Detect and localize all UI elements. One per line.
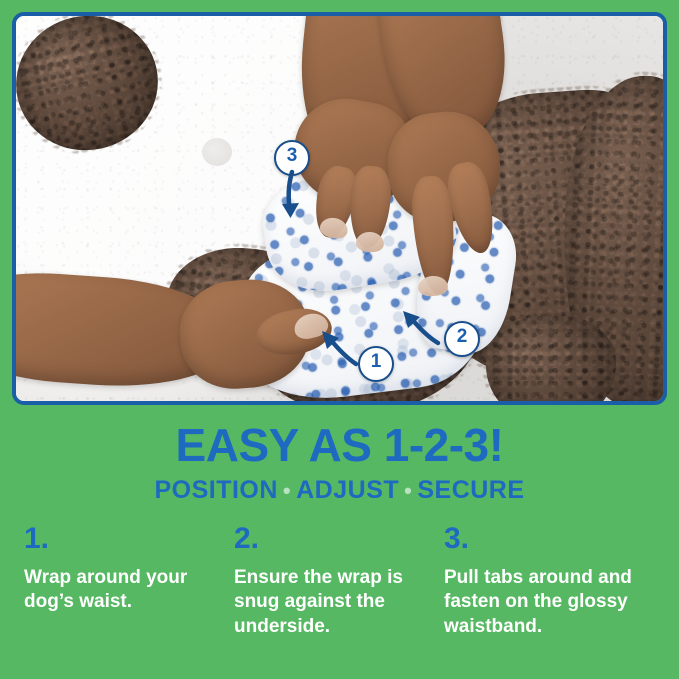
photo-callout-3: 3 xyxy=(274,140,310,176)
step-number-1: 1. xyxy=(24,524,220,554)
arrow-up-left-icon xyxy=(400,309,444,351)
step-text-2: Ensure the wrap is snug against the unde… xyxy=(234,566,430,639)
separator-dot-icon: • xyxy=(278,478,296,503)
arrow-up-left-icon xyxy=(318,328,362,372)
photo-inner: 3 2 1 xyxy=(16,16,663,401)
dog-tail-curl-gap xyxy=(202,138,232,166)
step-item-2: 2. Ensure the wrap is snug against the u… xyxy=(234,524,444,639)
subheadline-word-secure: SECURE xyxy=(417,476,524,504)
callout-badge-2: 2 xyxy=(444,321,480,357)
step-text-3: Pull tabs around and fasten on the gloss… xyxy=(444,566,640,639)
subheadline: POSITION•ADJUST•SECURE xyxy=(0,476,679,505)
step-number-2: 2. xyxy=(234,524,430,554)
step-text-1: Wrap around your dog’s waist. xyxy=(24,566,220,615)
step-number-3: 3. xyxy=(444,524,640,554)
instruction-photo-panel: 3 2 1 xyxy=(12,12,667,405)
subheadline-word-position: POSITION xyxy=(154,476,277,504)
subheadline-word-adjust: ADJUST xyxy=(296,476,399,504)
step-item-3: 3. Pull tabs around and fasten on the gl… xyxy=(444,524,654,639)
separator-dot-icon: • xyxy=(399,478,417,503)
headline: EASY AS 1-2-3! xyxy=(0,418,679,472)
callout-badge-1: 1 xyxy=(358,346,394,382)
arrow-down-icon xyxy=(276,170,316,222)
step-item-1: 1. Wrap around your dog’s waist. xyxy=(24,524,234,639)
photo-callout-2: 2 xyxy=(444,321,480,357)
photo-callout-1: 1 xyxy=(358,346,394,382)
steps-list: 1. Wrap around your dog’s waist. 2. Ensu… xyxy=(24,524,655,639)
product-instruction-poster: 3 2 1 EASY A xyxy=(0,0,679,679)
dog-hind-leg xyxy=(486,316,616,401)
